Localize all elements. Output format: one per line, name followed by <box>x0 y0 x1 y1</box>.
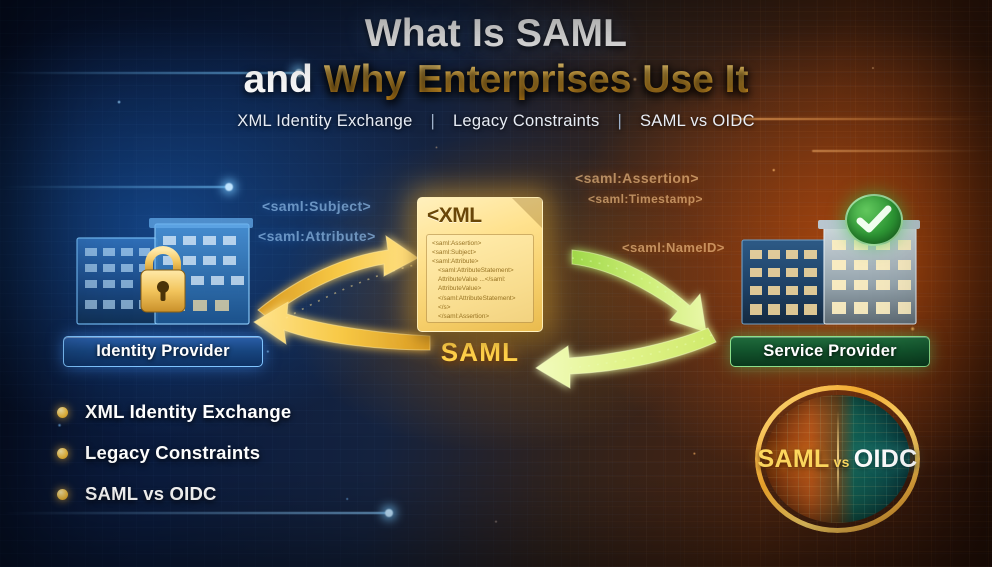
doc-to-idp-arrow <box>254 302 430 350</box>
subtitle-item-1: XML Identity Exchange <box>237 112 412 130</box>
badge-vs-label: vs <box>834 454 850 470</box>
badge-right-label: OIDC <box>854 445 918 474</box>
page-title-line-2: and Why Enterprises Use It <box>0 56 992 104</box>
list-item: XML Identity Exchange <box>57 401 291 423</box>
check-badge-icon <box>845 194 903 246</box>
page-title-line-1: What Is SAML <box>0 12 992 56</box>
key-points-list: XML Identity ExchangeLegacy ConstraintsS… <box>57 401 291 524</box>
xml-line: </s> <box>432 303 528 312</box>
subtitle-separator: | <box>617 112 622 130</box>
saml-xml-document[interactable]: <XML <saml:Assertion><saml:Subject><saml… <box>417 197 543 368</box>
infographic-canvas: What Is SAML and Why Enterprises Use It … <box>0 0 992 567</box>
xml-line: <saml:AttributeStatement> <box>432 266 528 275</box>
saml-vs-oidc-badge[interactable]: SAML vs OIDC <box>755 385 920 533</box>
xml-file-icon: <XML <saml:Assertion><saml:Subject><saml… <box>417 197 543 332</box>
bullet-label: XML Identity Exchange <box>85 401 291 423</box>
identity-provider-label: Identity Provider <box>63 336 263 367</box>
xml-line: AttributeValue ...</saml: <box>432 275 528 284</box>
bullet-dot-icon <box>57 489 68 500</box>
xml-line: <saml:Subject> <box>432 248 528 257</box>
xml-line: <saml:Assertion> <box>432 239 528 248</box>
subtitle-item-2: Legacy Constraints <box>453 112 600 130</box>
xml-file-type-label: <XML <box>427 204 482 228</box>
xml-line: AttributeValue> <box>432 284 528 293</box>
subtitle-row: XML Identity Exchange | Legacy Constrain… <box>0 112 992 131</box>
page-title-highlight: Why Enterprises Use It <box>324 58 749 101</box>
service-provider-node[interactable]: Service Provider <box>730 212 930 367</box>
list-item: Legacy Constraints <box>57 442 291 464</box>
sp-to-doc-arrow <box>536 328 716 388</box>
subtitle-item-3: SAML vs OIDC <box>640 112 755 130</box>
bullet-label: SAML vs OIDC <box>85 483 217 505</box>
list-item: SAML vs OIDC <box>57 483 291 505</box>
header: What Is SAML and Why Enterprises Use It … <box>0 12 992 131</box>
badge-left-label: SAML <box>758 445 830 474</box>
bullet-label: Legacy Constraints <box>85 442 260 464</box>
bullet-dot-icon <box>57 448 68 459</box>
saml-caption: SAML <box>417 337 543 368</box>
subtitle-separator: | <box>430 112 435 130</box>
identity-provider-node[interactable]: Identity Provider <box>63 212 263 367</box>
badge-text: SAML vs OIDC <box>755 385 920 533</box>
xml-line: <saml:Attribute> <box>432 257 528 266</box>
bullet-dot-icon <box>57 407 68 418</box>
xml-line: </saml:Assertion> <box>432 312 528 321</box>
doc-to-sp-arrow <box>572 250 706 332</box>
xml-line: </saml:AttributeStatement> <box>432 294 528 303</box>
page-title-prefix: and <box>244 58 324 101</box>
xml-content-lines: <saml:Assertion><saml:Subject><saml:Attr… <box>426 234 534 323</box>
identity-provider-building-icon <box>63 212 263 330</box>
service-provider-label: Service Provider <box>730 336 930 367</box>
